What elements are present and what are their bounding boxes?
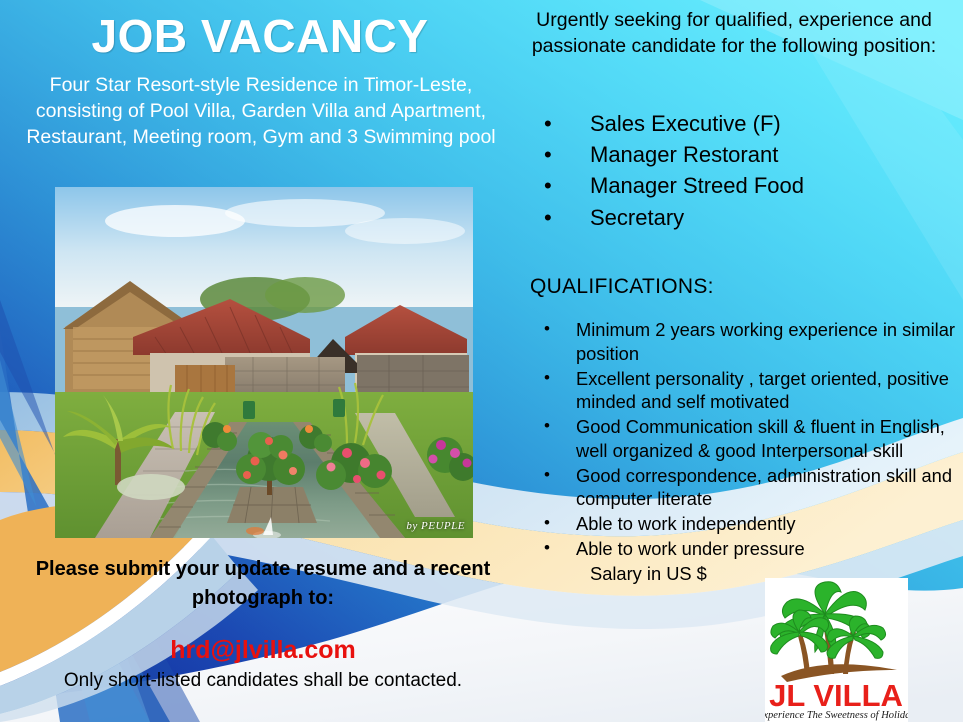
jl-villa-logo: JL VILLA Experience The Sweetness of Hol… [765,578,908,722]
bullet-icon: • [544,464,550,486]
position-label: Secretary [590,205,684,230]
palm-tree-logo-icon: JL VILLA Experience The Sweetness of Hol… [765,578,908,722]
seeking-statement: Urgently seeking for qualified, experien… [524,8,944,60]
list-item: • Good Communication skill & fluent in E… [530,415,960,463]
bullet-icon: • [544,139,552,170]
qualification-label: Good correspondence, administration skil… [576,465,952,510]
logo-tagline: Experience The Sweetness of Holiday [765,710,908,721]
company-description: Four Star Resort-style Residence in Timo… [22,73,500,151]
list-item: • Excellent personality , target oriente… [530,367,960,415]
qualification-label: Excellent personality , target oriented,… [576,368,949,413]
salary-label: Salary in US $ [590,563,707,584]
list-item: • Manager Restorant [532,139,952,170]
bullet-icon: • [544,318,550,340]
bullet-icon: • [544,537,550,559]
qualification-label: Able to work under pressure [576,538,805,559]
qualifications-heading: QUALIFICATIONS: [530,275,714,299]
page-title: JOB VACANCY [0,12,520,60]
bullet-icon: • [544,367,550,389]
job-vacancy-poster: JOB VACANCY Four Star Resort-style Resid… [0,0,963,722]
list-item: • Manager Streed Food [532,170,952,201]
list-item: • Able to work independently [530,512,960,536]
list-item: • Minimum 2 years working experience in … [530,318,960,366]
submit-instruction: Please submit your update resume and a r… [30,555,496,613]
shortlist-disclaimer: Only short-listed candidates shall be co… [20,670,506,692]
qualification-label: Good Communication skill & fluent in Eng… [576,416,945,461]
left-column: JOB VACANCY Four Star Resort-style Resid… [0,0,520,722]
position-label: Sales Executive (F) [590,111,781,136]
bullet-icon: • [544,202,552,233]
list-item: • Sales Executive (F) [532,108,952,139]
bullet-icon: • [544,512,550,534]
position-label: Manager Streed Food [590,173,804,198]
qualifications-list: • Minimum 2 years working experience in … [530,318,960,587]
logo-wordmark: JL VILLA [769,678,903,713]
bullet-icon: • [544,170,552,201]
positions-list: • Sales Executive (F) • Manager Restoran… [532,108,952,233]
contact-email[interactable]: hrd@jlvilla.com [30,636,496,665]
resort-photo-illustration [55,187,473,538]
list-item: • Secretary [532,202,952,233]
list-item: • Good correspondence, administration sk… [530,464,960,512]
bullet-icon: • [544,415,550,437]
qualification-label: Able to work independently [576,513,796,534]
bullet-icon: • [544,108,552,139]
photo-credit: by PEUPLE [406,520,465,532]
resort-photo: by PEUPLE [55,187,473,538]
position-label: Manager Restorant [590,142,778,167]
qualification-label: Minimum 2 years working experience in si… [576,319,955,364]
list-item: • Able to work under pressure [530,537,960,561]
